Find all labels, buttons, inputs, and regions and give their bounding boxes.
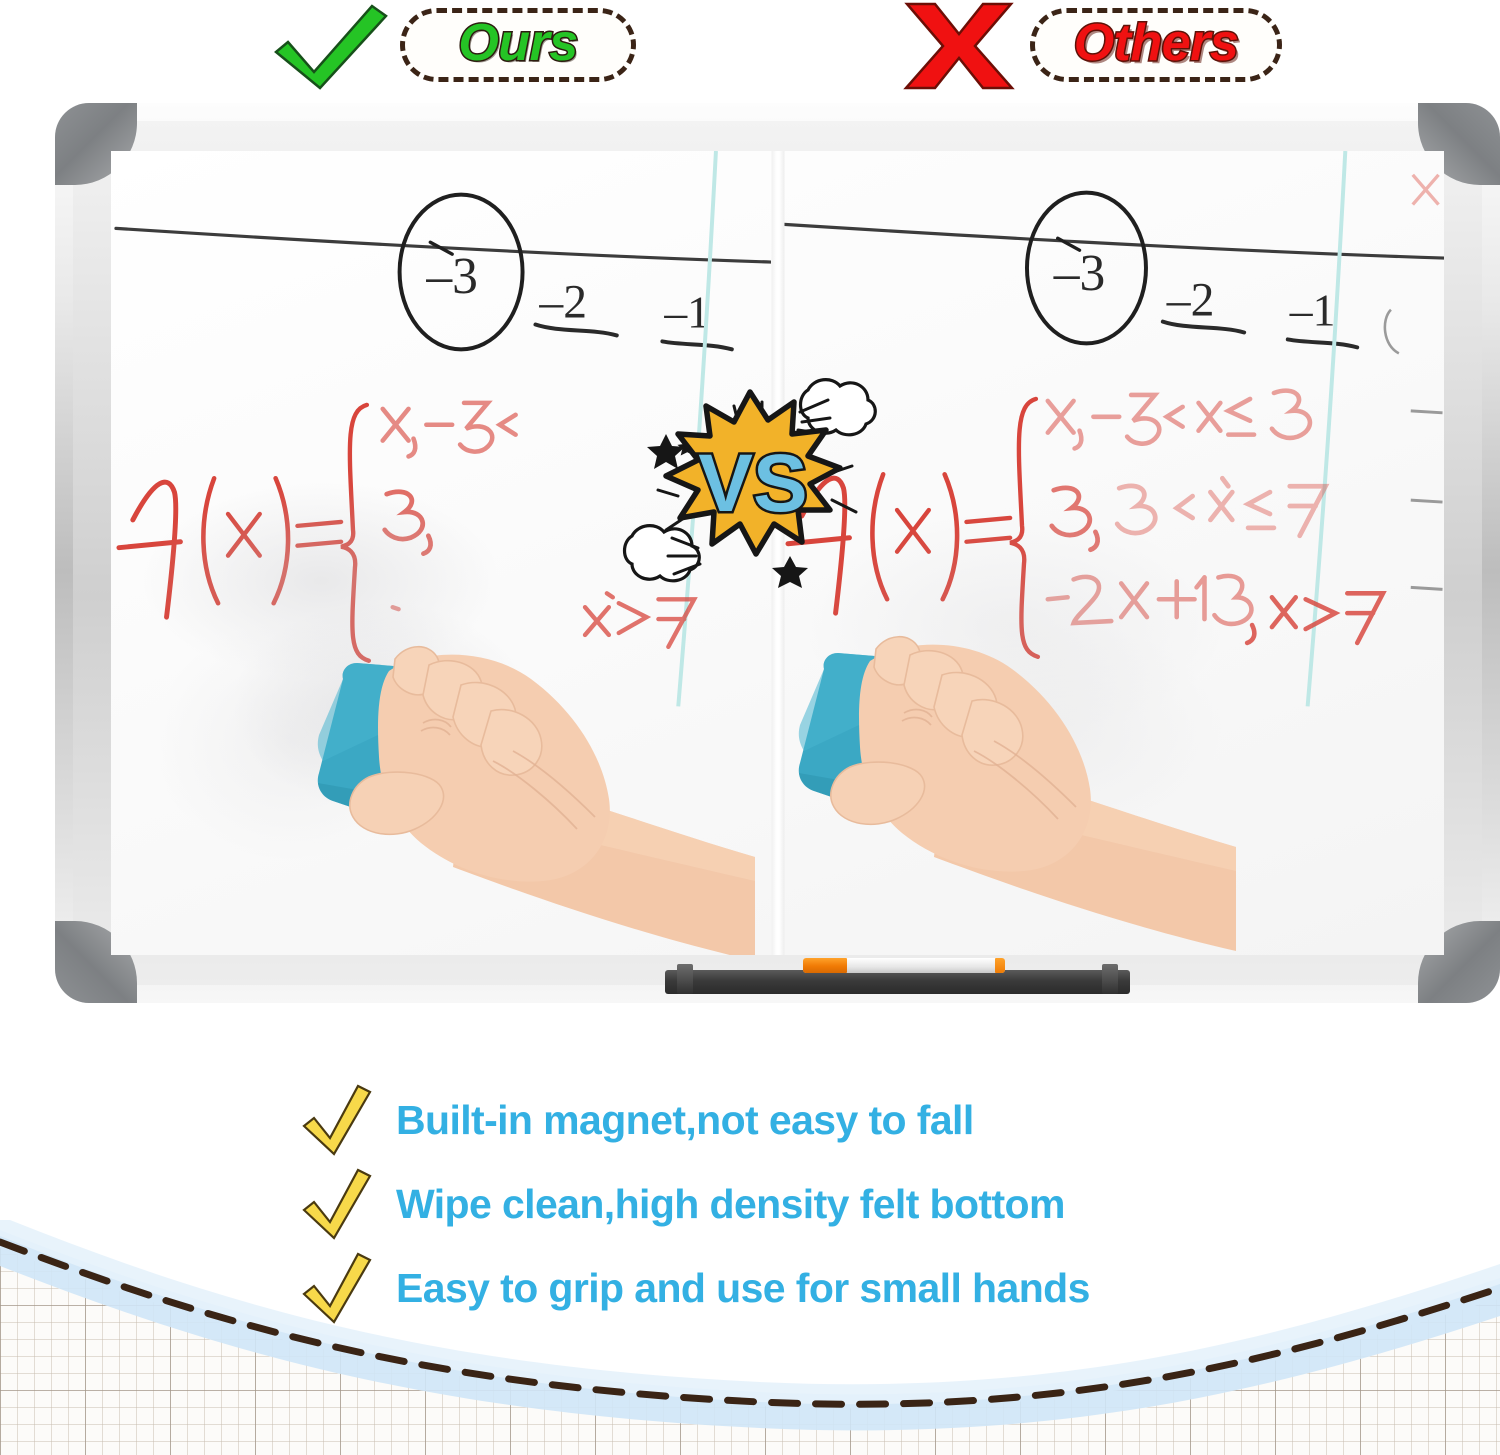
- svg-text:–3: –3: [425, 248, 478, 305]
- badge-others-label: Others: [1074, 17, 1239, 73]
- dry-erase-marker[interactable]: [803, 958, 1005, 973]
- svg-text:–1: –1: [663, 287, 710, 338]
- list-item-label: Wipe clean,high density felt bottom: [396, 1181, 1065, 1228]
- check-mark-icon: [268, 2, 394, 90]
- versus-text: VS: [698, 438, 807, 529]
- badge-others: Others: [1030, 8, 1282, 82]
- hand-with-eraser-ours: [303, 631, 755, 955]
- svg-text:VS: VS: [698, 438, 807, 529]
- svg-text:–3: –3: [1052, 245, 1105, 302]
- badge-ours-label: Ours: [458, 17, 577, 73]
- list-item-label: Easy to grip and use for small hands: [396, 1265, 1090, 1312]
- marker-end-cap: [995, 958, 1005, 973]
- tray-foot-left: [677, 964, 693, 994]
- tray-bar: [665, 970, 1130, 994]
- check-mark-icon: [300, 1168, 374, 1240]
- list-item: Wipe clean,high density felt bottom: [300, 1162, 1300, 1246]
- versus-badge: VS: [622, 368, 884, 590]
- x-mark-icon: [893, 2, 1025, 90]
- list-item: Easy to grip and use for small hands: [300, 1246, 1300, 1330]
- svg-text:–2: –2: [538, 277, 587, 329]
- feature-list: Built-in magnet,not easy to fall Wipe cl…: [300, 1078, 1300, 1330]
- badge-ours: Ours: [400, 8, 636, 82]
- list-item-label: Built-in magnet,not easy to fall: [396, 1097, 974, 1144]
- marker-cap: [803, 958, 847, 973]
- check-mark-icon: [300, 1084, 374, 1156]
- comparison-badge-row: Ours Others: [0, 0, 1500, 100]
- tray-foot-right: [1102, 964, 1118, 994]
- check-mark-icon: [300, 1252, 374, 1324]
- list-item: Built-in magnet,not easy to fall: [300, 1078, 1300, 1162]
- svg-text:–1: –1: [1288, 285, 1335, 336]
- svg-text:–2: –2: [1165, 275, 1214, 327]
- hand-with-eraser-others: [784, 621, 1236, 955]
- marker-tray: [665, 958, 1130, 1000]
